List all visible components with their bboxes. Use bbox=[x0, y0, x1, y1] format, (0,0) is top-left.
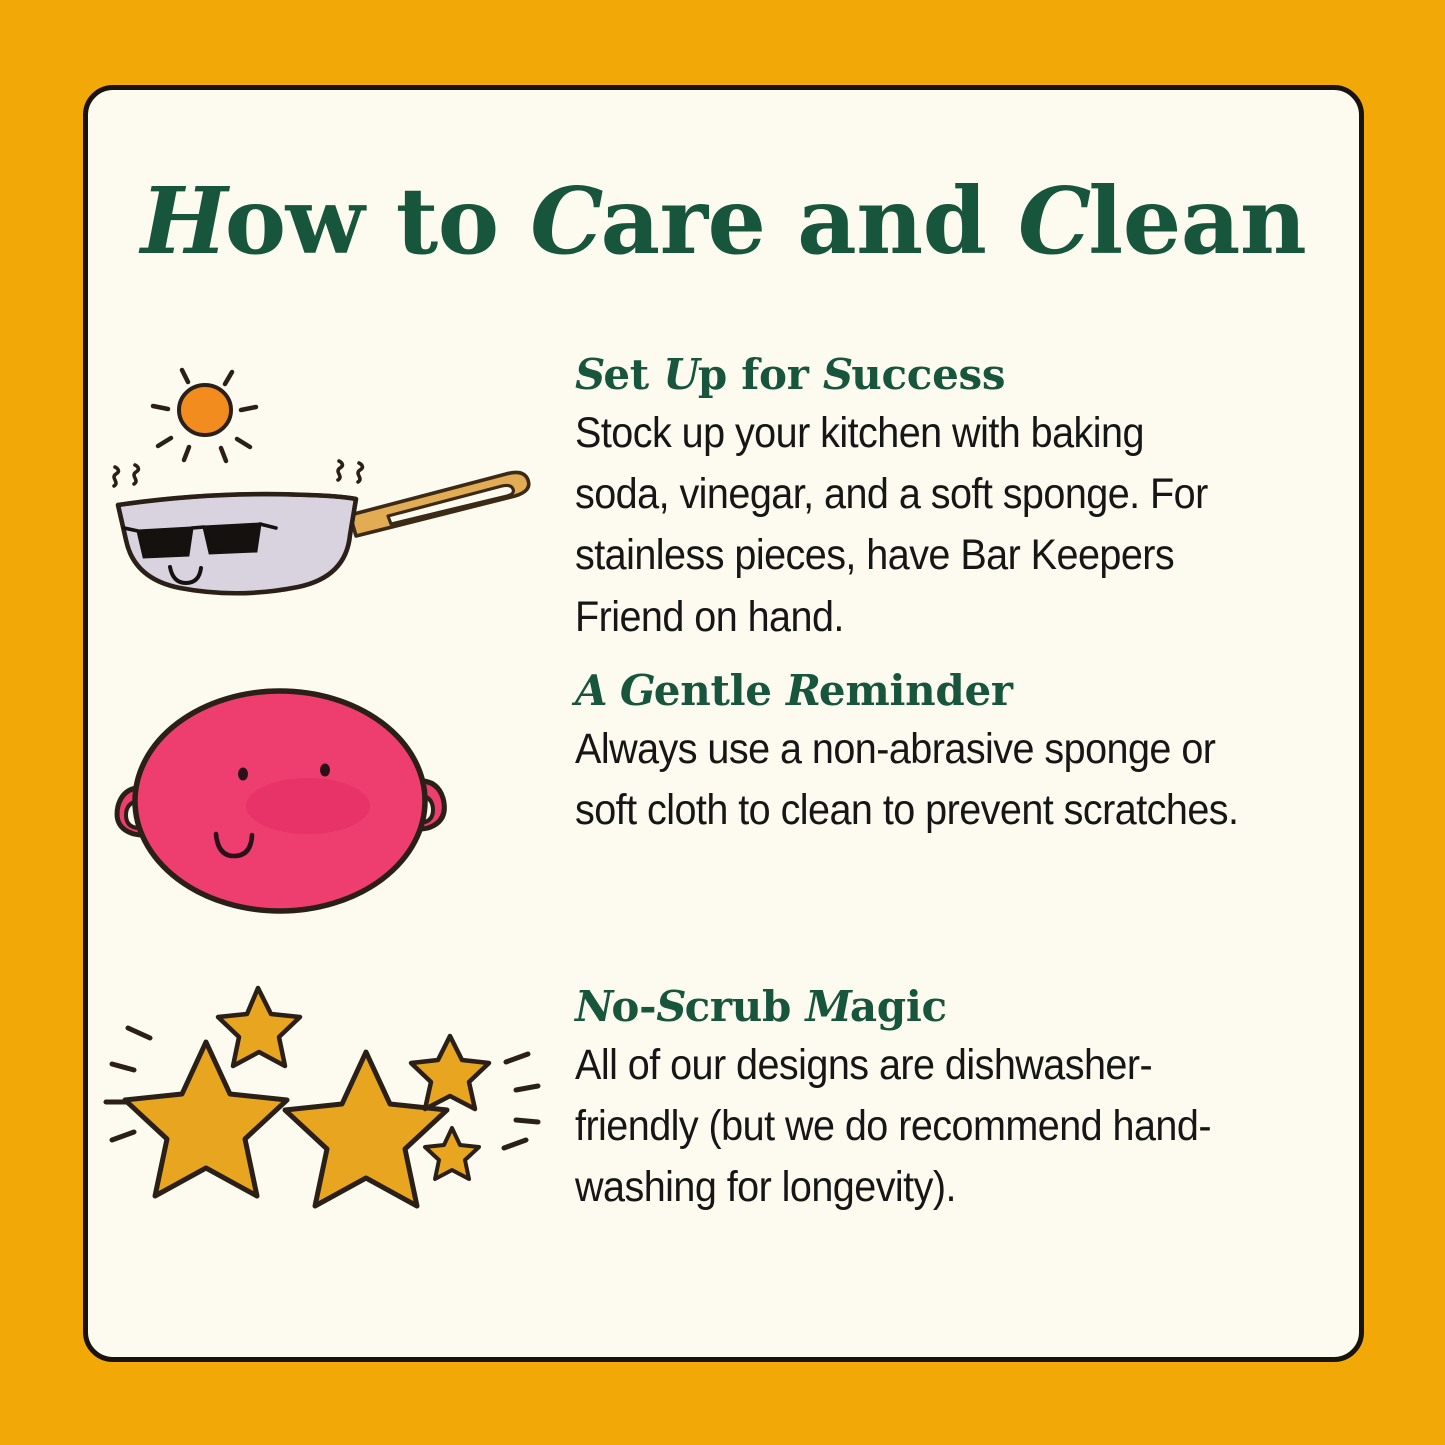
sparkling-stars-icon bbox=[88, 980, 575, 1280]
pink-sponge-with-face-icon bbox=[88, 664, 575, 964]
section-heading: No-Scrub Magic bbox=[575, 984, 1299, 1029]
poster-root: How to Care and Clean bbox=[0, 0, 1445, 1445]
instruction-list: Set Up for Success Stock up your kitchen… bbox=[88, 348, 1359, 1280]
list-item: No-Scrub Magic All of our designs are di… bbox=[88, 980, 1359, 1280]
list-item: A Gentle Reminder Always use a non-abras… bbox=[88, 664, 1359, 964]
frying-pan-with-sunglasses-and-sun-icon bbox=[88, 348, 575, 648]
section-body: Always use a non-abrasive sponge or soft… bbox=[575, 719, 1241, 841]
care-and-clean-card: How to Care and Clean bbox=[83, 85, 1364, 1362]
page-title: How to Care and Clean bbox=[88, 175, 1359, 267]
section-body: All of our designs are dishwasher-friend… bbox=[575, 1035, 1241, 1218]
section-body: Stock up your kitchen with baking soda, … bbox=[575, 403, 1241, 647]
section-copy: A Gentle Reminder Always use a non-abras… bbox=[575, 664, 1359, 841]
section-copy: Set Up for Success Stock up your kitchen… bbox=[575, 348, 1359, 648]
section-copy: No-Scrub Magic All of our designs are di… bbox=[575, 980, 1359, 1219]
list-item: Set Up for Success Stock up your kitchen… bbox=[88, 348, 1359, 648]
section-heading: Set Up for Success bbox=[575, 352, 1299, 397]
section-heading: A Gentle Reminder bbox=[575, 668, 1299, 713]
